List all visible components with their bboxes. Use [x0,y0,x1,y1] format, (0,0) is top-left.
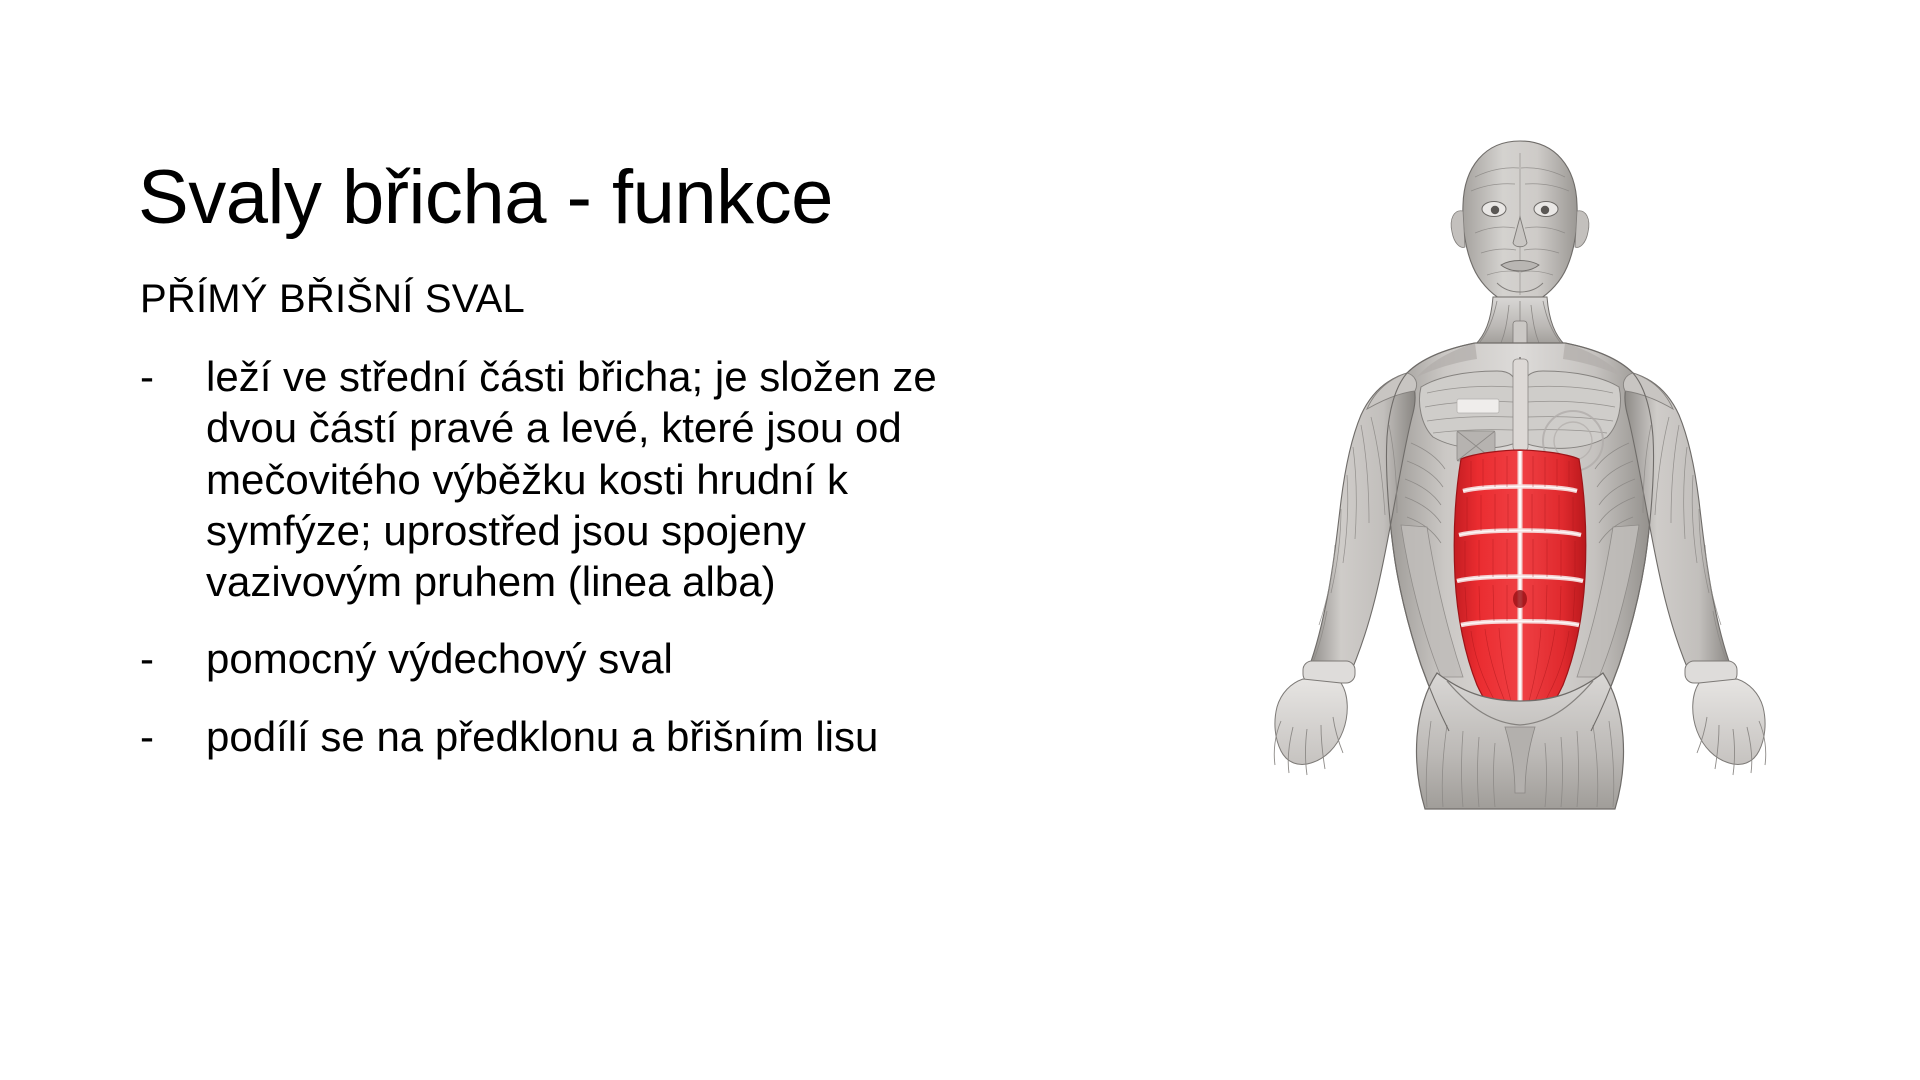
bullet-text: pomocný výdechový sval [206,633,996,684]
bullet-list: - leží ve střední části břicha; je slože… [140,351,1100,762]
neck-group [1475,297,1565,347]
list-item: - podílí se na předklonu a břišním lisu [140,711,1100,762]
bullet-text: podílí se na předklonu a břišním lisu [206,711,996,762]
hand-right [1693,679,1766,775]
bullet-marker-icon: - [140,633,206,684]
hand-right-palm [1693,679,1765,765]
bullet-marker-icon: - [140,351,206,402]
anatomy-figure [1175,125,1865,815]
hand-left-palm [1275,679,1347,765]
head-group [1451,141,1589,305]
presentation-slide: Svaly břicha - funkce PŘÍMÝ BŘIŠNÍ SVAL … [0,0,1920,1080]
hand-left [1274,679,1347,775]
marker-plate-upper [1457,399,1499,413]
slide-title: Svaly břicha - funkce [138,159,1138,237]
bullet-marker-icon: - [140,711,206,762]
list-item: - leží ve střední části břicha; je slože… [140,351,1100,607]
navel-icon [1513,590,1527,608]
anatomy-illustration-svg [1175,125,1865,815]
list-item: - pomocný výdechový sval [140,633,1100,684]
pupil-right [1541,206,1549,214]
pectoral-right [1524,371,1621,448]
bullet-text: leží ve střední části břicha; je složen … [206,351,996,607]
pupil-left [1491,206,1499,214]
section-subheading: PŘÍMÝ BŘIŠNÍ SVAL [140,276,1100,323]
slide-body: PŘÍMÝ BŘIŠNÍ SVAL - leží ve střední část… [140,276,1100,762]
ear-left-icon [1451,211,1465,248]
ear-right-icon [1575,211,1589,248]
sternum-bone [1513,359,1528,451]
